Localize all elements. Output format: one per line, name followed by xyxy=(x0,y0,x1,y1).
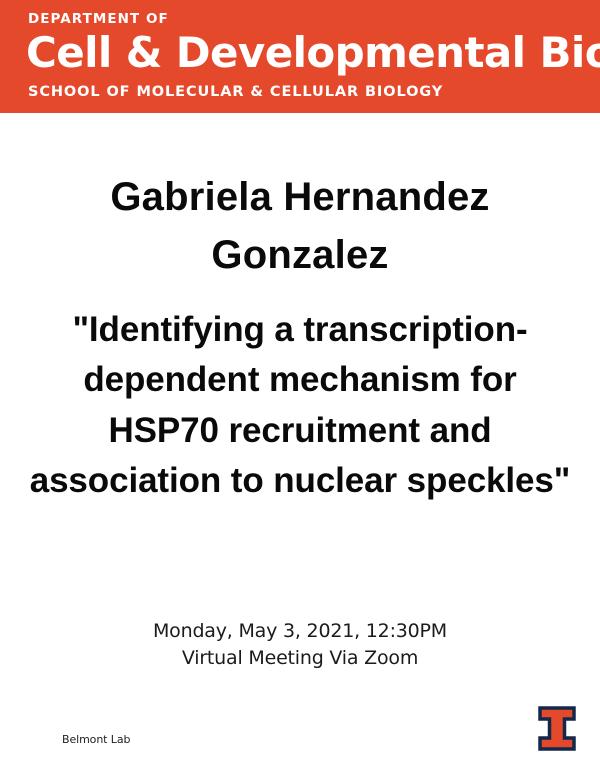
department-name-title: Cell & Developmental Biology xyxy=(26,29,600,76)
speaker-name: Gabriela Hernandez Gonzalez xyxy=(50,168,550,284)
department-header-band: DEPARTMENT OF Cell & Developmental Biolo… xyxy=(0,0,600,113)
lab-credit-label: Belmont Lab xyxy=(62,734,130,745)
seminar-flyer: DEPARTMENT OF Cell & Developmental Biolo… xyxy=(0,0,600,777)
meeting-details: Monday, May 3, 2021, 12:30PM Virtual Mee… xyxy=(50,618,550,673)
block-i-shape xyxy=(540,708,574,749)
school-name-label: SCHOOL OF MOLECULAR & CELLULAR BIOLOGY xyxy=(28,85,443,100)
talk-title: "Identifying a transcription-dependent m… xyxy=(26,305,574,507)
meeting-location: Virtual Meeting Via Zoom xyxy=(50,645,550,672)
meeting-datetime: Monday, May 3, 2021, 12:30PM xyxy=(50,618,550,645)
department-eyebrow-label: DEPARTMENT OF xyxy=(28,13,169,27)
university-logo xyxy=(538,706,576,751)
block-i-icon xyxy=(538,706,576,751)
